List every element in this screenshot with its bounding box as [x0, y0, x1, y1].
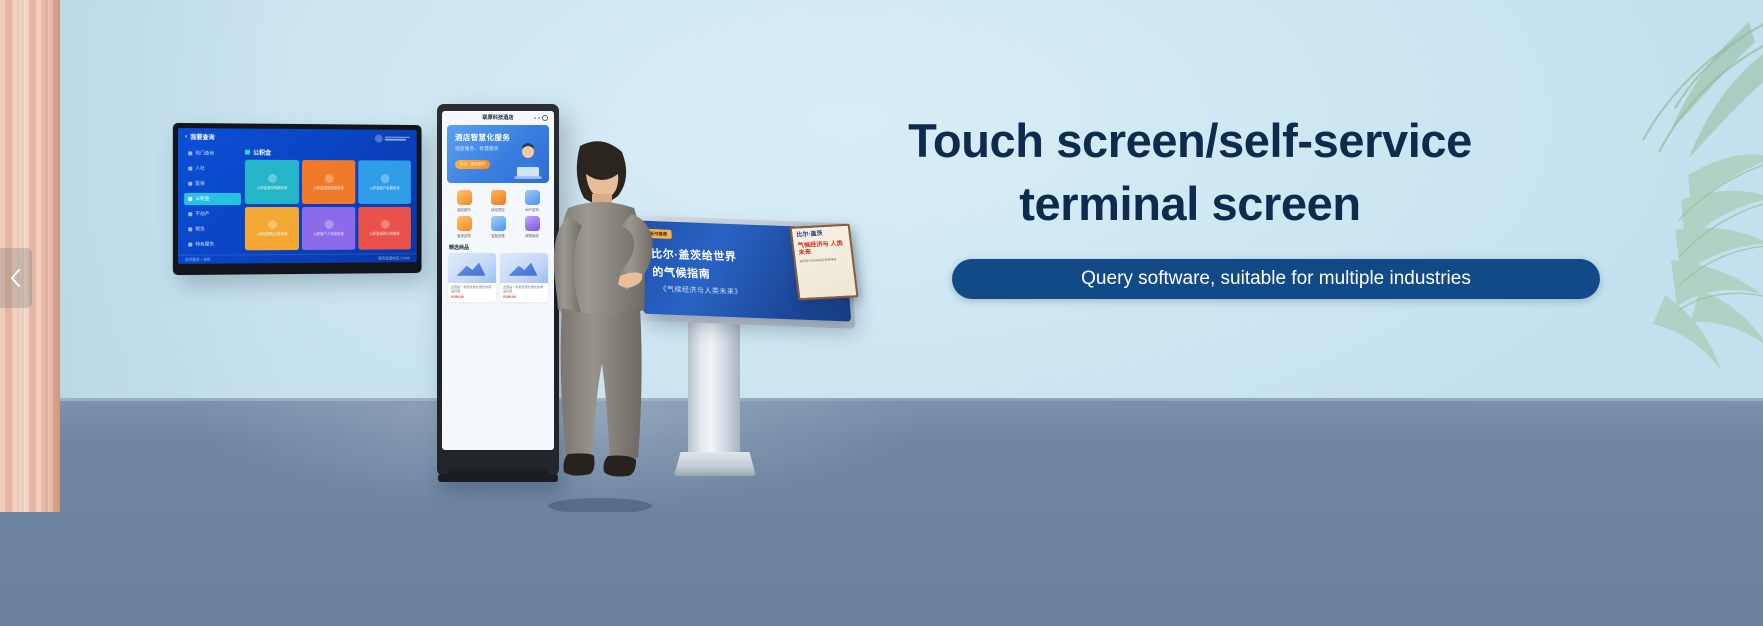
kiosk-service-4[interactable]: 智能送餐	[482, 216, 514, 238]
menu-bullet-icon	[188, 151, 192, 155]
book-author: 比尔·盖茨	[796, 230, 845, 240]
tv-card-label: 公积金账户余额查询	[370, 185, 400, 190]
card-icon	[380, 220, 389, 229]
tv-back-button[interactable]: ‹ 我要查询	[185, 132, 215, 141]
kiosk-title: 联厚科技酒店	[482, 114, 513, 121]
kiosk-service-1[interactable]: 续住预定	[482, 190, 514, 212]
headline-line-1: Touch screen/self-service	[900, 110, 1480, 173]
kiosk-header-actions[interactable]	[534, 115, 548, 121]
card-icon	[380, 174, 389, 183]
kiosk-service-label: 智能送餐	[491, 233, 505, 238]
tv-card-5[interactable]: 公积金还款计划查询	[358, 206, 411, 249]
tv-menu-item-1[interactable]: 人社	[184, 163, 241, 175]
tv-menu-item-0[interactable]: 热门查询	[184, 147, 241, 159]
book-note: 如何在2050年前实现零排放	[800, 258, 849, 264]
cta-button[interactable]: Query software, suitable for multiple in…	[952, 259, 1600, 299]
tv-card-label: 公积金个人信息查询	[314, 231, 344, 236]
card-icon	[268, 220, 277, 229]
kiosk-service-label: 续住预定	[491, 207, 505, 212]
tv-menu-label: 热门查询	[195, 150, 214, 156]
tv-card-2[interactable]: 公积金账户余额查询	[358, 160, 411, 203]
tv-brand-mark	[375, 134, 410, 142]
book-cover-card[interactable]: 比尔·盖茨 气候经济与 人类未来 如何在2050年前实现零排放	[789, 224, 858, 301]
tv-card-grid: 公积金缴存明细查询 公积金贷款信息查询 公积金账户余额查询 公积金提取记录查询 …	[245, 160, 411, 251]
wall-tv-display[interactable]: ‹ 我要查询 热门查询 人社 医保 公积金 不动产 税务 特色服务	[173, 123, 422, 275]
card-icon	[324, 220, 333, 229]
tv-section-title: 公积金	[253, 148, 271, 157]
headline-line-2: terminal screen	[900, 173, 1480, 236]
tv-menu-item-2[interactable]: 医保	[184, 178, 241, 190]
kiosk-service-3[interactable]: 客房送物	[448, 216, 480, 238]
chevron-left-icon	[8, 267, 24, 289]
card-icon	[324, 174, 333, 183]
tv-card-label: 公积金贷款信息查询	[314, 185, 344, 190]
kiosk-service-label: 酒店超市	[457, 207, 471, 212]
product-price: ¥199.00	[448, 295, 496, 302]
tv-body: 热门查询 人社 医保 公积金 不动产 税务 特色服务 公积金 公积金缴存明细查询	[178, 145, 417, 255]
tv-menu-label: 不动产	[195, 211, 209, 217]
menu-bullet-icon	[188, 227, 192, 231]
tv-footer-right: 服务监督电话 12345	[378, 256, 410, 261]
tv-card-3[interactable]: 公积金提取记录查询	[245, 207, 299, 251]
tv-brand-text	[385, 136, 410, 140]
table-pillar	[688, 308, 740, 458]
calendar-icon	[491, 190, 506, 205]
tv-card-0[interactable]: 公积金缴存明细查询	[245, 160, 299, 204]
palm-plant-icon	[1453, 0, 1763, 460]
page-title: Touch screen/self-service terminal scree…	[900, 110, 1480, 235]
section-icon	[245, 150, 250, 155]
dot-icon	[534, 117, 536, 119]
tv-card-label: 公积金还款计划查询	[370, 231, 400, 236]
tv-sidebar-menu: 热门查询 人社 医保 公积金 不动产 税务 特色服务	[184, 145, 241, 250]
settings-gear-icon[interactable]	[542, 115, 548, 121]
menu-bullet-icon	[188, 212, 192, 216]
tv-header: ‹ 我要查询	[178, 128, 417, 147]
basket-icon	[457, 190, 472, 205]
delivery-icon	[491, 216, 506, 231]
tv-footer: 政务服务一体机 服务监督电话 12345	[178, 253, 417, 264]
tv-menu-label: 人社	[195, 166, 204, 172]
kiosk-header: 联厚科技酒店	[442, 111, 554, 124]
tv-menu-label: 特色服务	[195, 241, 214, 247]
menu-bullet-icon	[188, 243, 192, 247]
tv-main-panel: 公积金 公积金缴存明细查询 公积金贷款信息查询 公积金账户余额查询 公积金提取记…	[245, 146, 411, 251]
kiosk-product-0[interactable]: 这里是一条很长很长很长的商品标题 ¥199.00	[448, 253, 496, 302]
promo-banner: ‹ 我要查询 热门查询 人社 医保 公积金 不动产 税务 特色服务	[0, 0, 1763, 626]
tv-menu-item-4[interactable]: 不动产	[184, 208, 241, 220]
tv-back-label: 我要查询	[190, 132, 214, 141]
tv-menu-label: 公积金	[195, 196, 209, 202]
tv-brand-logo-icon	[375, 134, 383, 142]
tv-footer-left: 政务服务一体机	[185, 257, 211, 262]
table-base	[674, 452, 756, 476]
tv-card-label: 公积金缴存明细查询	[257, 185, 288, 190]
tv-card-1[interactable]: 公积金贷款信息查询	[302, 160, 355, 203]
card-icon	[268, 174, 277, 183]
tv-menu-label: 税务	[195, 226, 204, 232]
kiosk-hero-button[interactable]: 热点、酒店服务	[455, 160, 490, 169]
menu-bullet-icon	[188, 182, 192, 186]
tv-menu-item-5[interactable]: 税务	[184, 223, 241, 235]
tv-card-4[interactable]: 公积金个人信息查询	[302, 206, 355, 250]
tv-card-label: 公积金提取记录查询	[257, 231, 288, 236]
chat-icon	[457, 216, 472, 231]
menu-bullet-icon	[188, 197, 192, 201]
product-image	[448, 253, 496, 283]
carousel-prev-button[interactable]	[0, 248, 32, 308]
tv-menu-label: 医保	[195, 181, 204, 187]
headline-block: Touch screen/self-service terminal scree…	[900, 110, 1480, 235]
kiosk-service-0[interactable]: 酒店超市	[448, 190, 480, 212]
kiosk-service-label: 客房送物	[457, 233, 471, 238]
tv-menu-item-3[interactable]: 公积金	[184, 193, 241, 205]
product-desc: 这里是一条很长很长很长的商品标题	[448, 283, 496, 295]
chevron-left-icon: ‹	[185, 134, 187, 140]
dot-icon	[538, 117, 540, 119]
book-title: 气候经济与 人类未来	[797, 239, 847, 257]
tv-menu-item-6[interactable]: 特色服务	[184, 238, 241, 250]
tv-section-header: 公积金	[245, 148, 411, 158]
tv-screen: ‹ 我要查询 热门查询 人社 医保 公积金 不动产 税务 特色服务	[178, 128, 417, 264]
person-using-kiosk	[520, 136, 680, 512]
menu-bullet-icon	[188, 167, 192, 171]
